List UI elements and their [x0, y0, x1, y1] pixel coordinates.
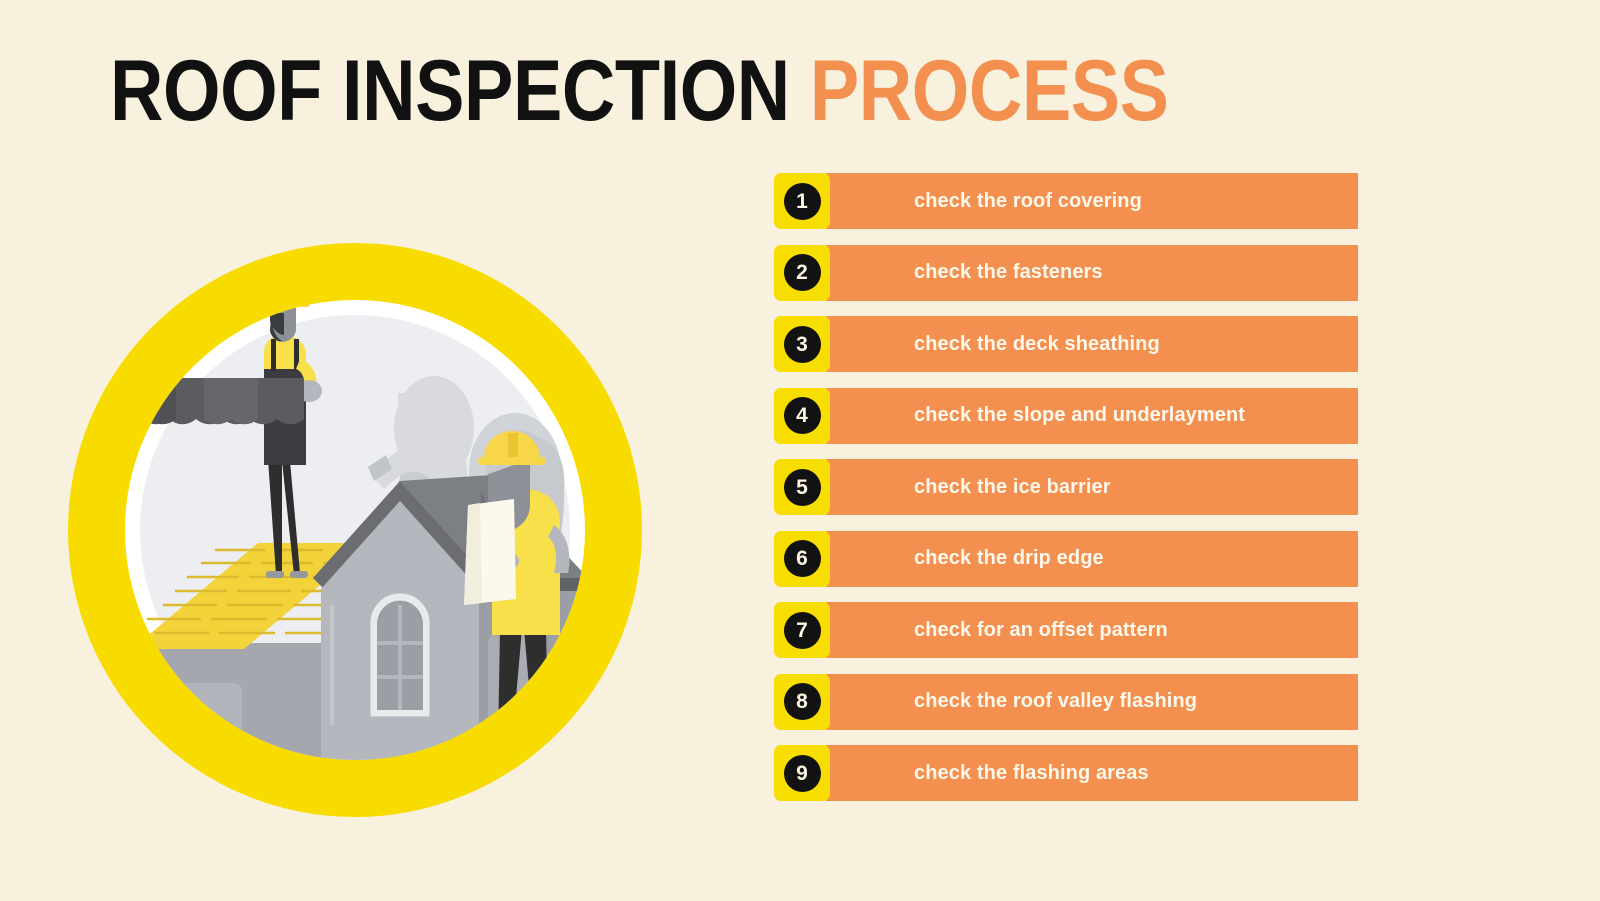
step-number: 7: [784, 612, 821, 649]
step-row[interactable]: 3 check the deck sheathing: [774, 316, 1358, 372]
step-label: check for an offset pattern: [914, 619, 1168, 642]
step-row[interactable]: 6 check the drip edge: [774, 531, 1358, 587]
step-row[interactable]: 4 check the slope and underlayment: [774, 388, 1358, 444]
step-label: check the flashing areas: [914, 762, 1149, 785]
step-number: 4: [784, 397, 821, 434]
step-badge: 7: [774, 602, 830, 658]
step-row[interactable]: 7 check for an offset pattern: [774, 602, 1358, 658]
step-label: check the ice barrier: [914, 476, 1111, 499]
step-badge: 9: [774, 745, 830, 801]
step-badge: 5: [774, 459, 830, 515]
step-row[interactable]: 5 check the ice barrier: [774, 459, 1358, 515]
house-window-icon: [374, 597, 426, 713]
step-label: check the roof valley flashing: [914, 690, 1197, 713]
worker-on-roof-icon: [262, 281, 322, 578]
step-bar[interactable]: check the roof covering: [826, 173, 1358, 229]
step-label: check the fasteners: [914, 261, 1103, 284]
step-bar[interactable]: check the deck sheathing: [826, 316, 1358, 372]
step-number: 9: [784, 755, 821, 792]
step-number: 2: [784, 254, 821, 291]
step-bar[interactable]: check the ice barrier: [826, 459, 1358, 515]
step-number: 1: [784, 183, 821, 220]
step-bar[interactable]: check the roof valley flashing: [826, 674, 1358, 730]
roof-panel-icon: [115, 378, 304, 424]
step-number: 5: [784, 469, 821, 506]
step-badge: 1: [774, 173, 830, 229]
step-badge: 2: [774, 245, 830, 301]
steps-list: 1 check the roof covering 2 check the fa…: [774, 173, 1358, 817]
step-row[interactable]: 2 check the fasteners: [774, 245, 1358, 301]
illustration-artwork: [68, 243, 642, 817]
step-bar[interactable]: check the slope and underlayment: [826, 388, 1358, 444]
step-badge: 4: [774, 388, 830, 444]
step-label: check the slope and underlayment: [914, 404, 1245, 427]
step-badge: 6: [774, 531, 830, 587]
step-label: check the drip edge: [914, 547, 1104, 570]
step-number: 8: [784, 683, 821, 720]
step-row[interactable]: 9 check the flashing areas: [774, 745, 1358, 801]
step-badge: 8: [774, 674, 830, 730]
page-title-primary: ROOF INSPECTION: [110, 43, 790, 139]
page-title-accent: PROCESS: [810, 43, 1169, 139]
step-bar[interactable]: check the fasteners: [826, 245, 1358, 301]
page-title: ROOF INSPECTION PROCESS: [110, 48, 1169, 134]
step-number: 3: [784, 326, 821, 363]
step-row[interactable]: 8 check the roof valley flashing: [774, 674, 1358, 730]
step-label: check the roof covering: [914, 190, 1142, 213]
roof-inspection-illustration: [68, 243, 642, 817]
step-bar[interactable]: check the drip edge: [826, 531, 1358, 587]
step-bar[interactable]: check for an offset pattern: [826, 602, 1358, 658]
step-number: 6: [784, 540, 821, 577]
step-bar[interactable]: check the flashing areas: [826, 745, 1358, 801]
step-badge: 3: [774, 316, 830, 372]
step-label: check the deck sheathing: [914, 333, 1160, 356]
step-row[interactable]: 1 check the roof covering: [774, 173, 1358, 229]
